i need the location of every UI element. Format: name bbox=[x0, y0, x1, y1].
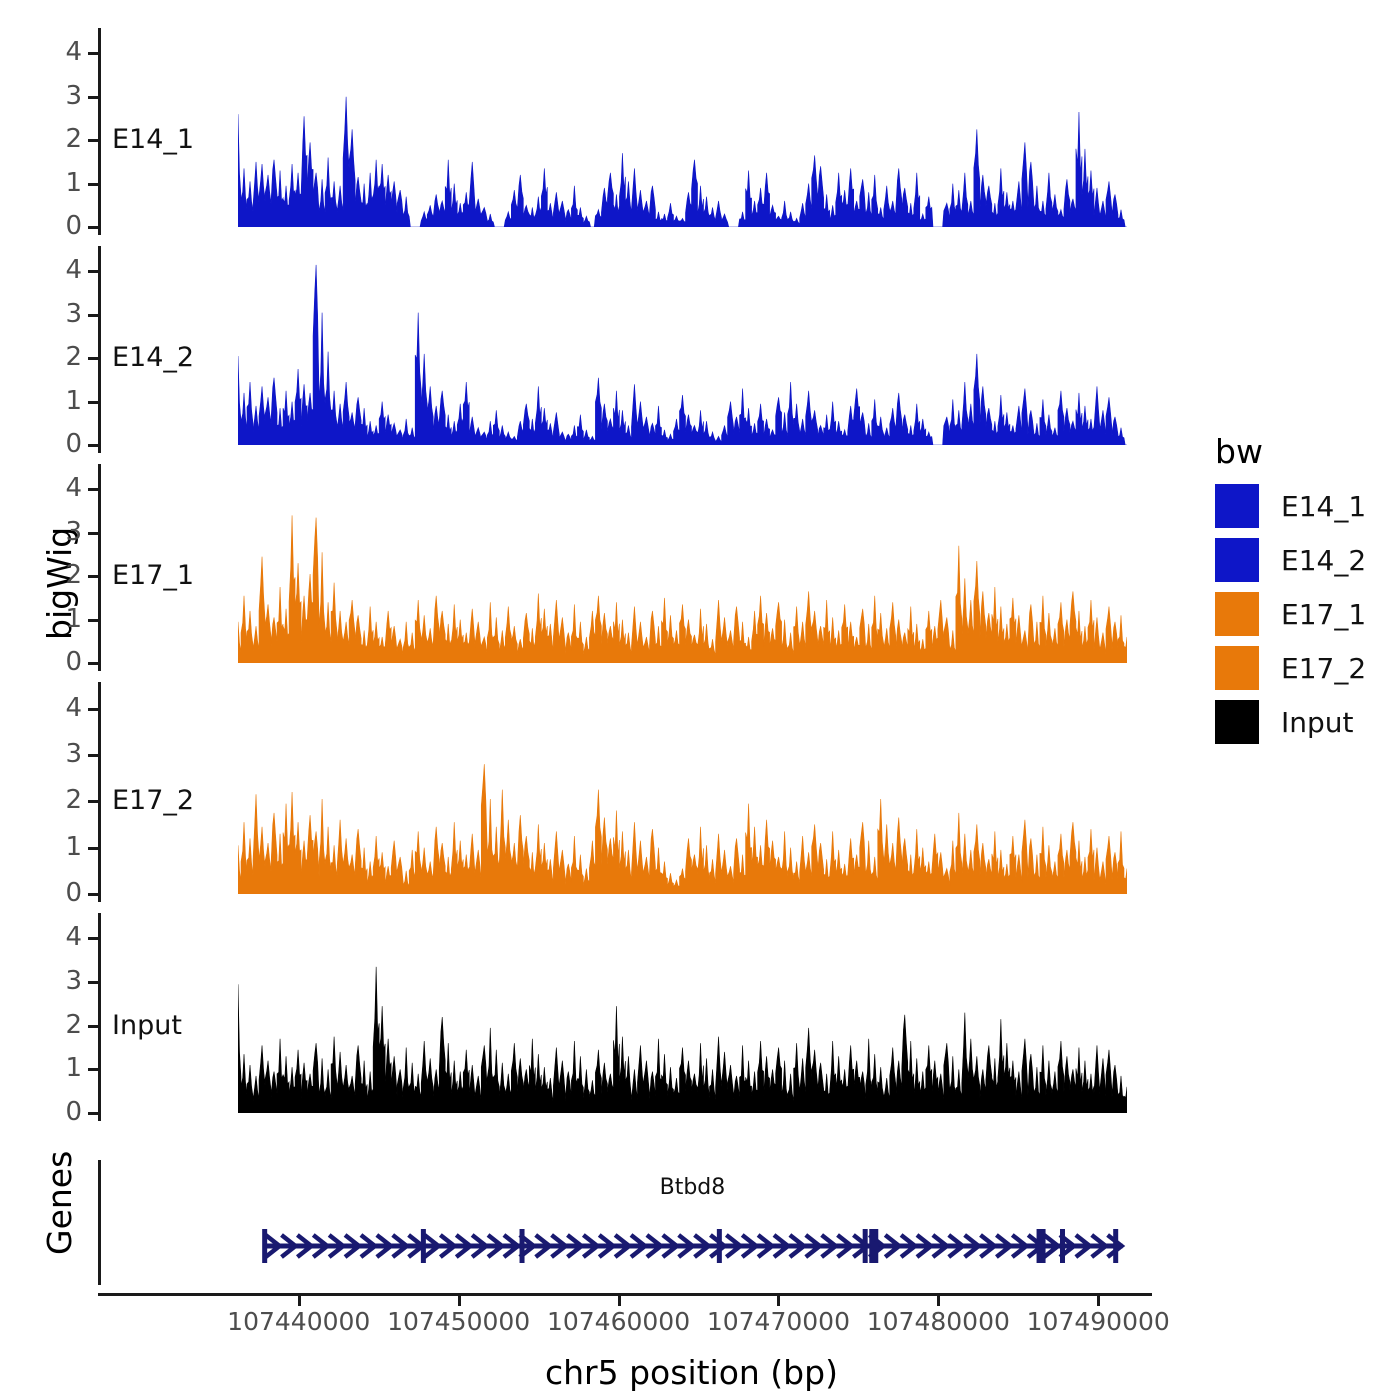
y-tick bbox=[88, 619, 98, 622]
signal-track-e14_1 bbox=[238, 36, 1127, 227]
y-tick bbox=[88, 139, 98, 142]
y-tick bbox=[88, 444, 98, 447]
y-tick-label: 4 bbox=[40, 924, 82, 950]
y-tick-label: 3 bbox=[40, 519, 82, 545]
y-tick bbox=[88, 357, 98, 360]
y-tick bbox=[88, 662, 98, 665]
y-tick bbox=[88, 183, 98, 186]
y-tick-label: 0 bbox=[40, 880, 82, 906]
y-axis-line-input bbox=[98, 913, 101, 1121]
legend-item-input[interactable]: Input bbox=[1215, 700, 1354, 744]
y-axis-line-e14_1 bbox=[98, 28, 101, 235]
plot-canvas: bigWigGenes01234E14_101234E14_201234E17_… bbox=[0, 0, 1400, 1400]
signal-track-e17_1 bbox=[238, 472, 1127, 663]
y-tick bbox=[88, 937, 98, 940]
signal-track-e17_2 bbox=[238, 690, 1127, 894]
legend-item-e17_2[interactable]: E17_2 bbox=[1215, 646, 1366, 690]
panel-label-e17_2: E17_2 bbox=[112, 785, 194, 816]
y-tick bbox=[88, 270, 98, 273]
legend-title: bw bbox=[1215, 432, 1263, 471]
y-tick-label: 4 bbox=[40, 39, 82, 65]
y-tick bbox=[88, 893, 98, 896]
legend-item-e17_1[interactable]: E17_1 bbox=[1215, 592, 1366, 636]
panel-label-e14_2: E14_2 bbox=[112, 342, 194, 373]
y-tick-label: 3 bbox=[40, 741, 82, 767]
legend-item-e14_1[interactable]: E14_1 bbox=[1215, 484, 1366, 528]
y-tick-label: 3 bbox=[40, 968, 82, 994]
y-tick bbox=[88, 52, 98, 55]
y-tick-label: 0 bbox=[40, 431, 82, 457]
y-axis-line-e17_2 bbox=[98, 682, 101, 902]
panel-label-e14_1: E14_1 bbox=[112, 124, 194, 155]
y-tick-label: 0 bbox=[40, 1099, 82, 1125]
legend-label: E17_1 bbox=[1281, 598, 1366, 631]
y-tick bbox=[88, 401, 98, 404]
legend-key-e17_2 bbox=[1215, 646, 1259, 690]
gene-name-label: Btbd8 bbox=[660, 1175, 726, 1200]
legend-label: E17_2 bbox=[1281, 652, 1366, 685]
signal-track-input bbox=[238, 921, 1127, 1113]
y-tick-label: 2 bbox=[40, 787, 82, 813]
x-tick bbox=[298, 1296, 301, 1306]
genes-axis-line bbox=[98, 1160, 101, 1285]
y-tick bbox=[88, 800, 98, 803]
x-axis-line bbox=[98, 1293, 1152, 1296]
gene-model-track bbox=[238, 1207, 1127, 1285]
y-axis-line-e17_1 bbox=[98, 464, 101, 671]
x-tick-label: 107490000 bbox=[988, 1309, 1208, 1335]
legend-key-e14_2 bbox=[1215, 538, 1259, 582]
y-tick-label: 4 bbox=[40, 475, 82, 501]
x-tick bbox=[458, 1296, 461, 1306]
y-tick bbox=[88, 754, 98, 757]
y-tick-label: 1 bbox=[40, 388, 82, 414]
y-tick bbox=[88, 1112, 98, 1115]
x-tick bbox=[937, 1296, 940, 1306]
x-tick bbox=[777, 1296, 780, 1306]
y-tick bbox=[88, 847, 98, 850]
y-tick-label: 0 bbox=[40, 649, 82, 675]
y-tick bbox=[88, 575, 98, 578]
legend-label: E14_2 bbox=[1281, 544, 1366, 577]
y-axis-line-e14_2 bbox=[98, 246, 101, 453]
y-tick bbox=[88, 708, 98, 711]
y-tick-label: 2 bbox=[40, 344, 82, 370]
y-tick-label: 1 bbox=[40, 170, 82, 196]
y-tick-label: 0 bbox=[40, 213, 82, 239]
y-tick-label: 2 bbox=[40, 562, 82, 588]
x-tick bbox=[618, 1296, 621, 1306]
legend-key-input bbox=[1215, 700, 1259, 744]
y-tick-label: 1 bbox=[40, 606, 82, 632]
panel-label-input: Input bbox=[112, 1010, 182, 1041]
y-tick-label: 4 bbox=[40, 257, 82, 283]
legend-key-e14_1 bbox=[1215, 484, 1259, 528]
y-tick-label: 2 bbox=[40, 126, 82, 152]
y-tick bbox=[88, 1025, 98, 1028]
y-tick bbox=[88, 532, 98, 535]
signal-track-e14_2 bbox=[238, 254, 1127, 445]
legend-label: E14_1 bbox=[1281, 490, 1366, 523]
x-tick bbox=[1097, 1296, 1100, 1306]
legend-label: Input bbox=[1281, 706, 1354, 739]
y-tick bbox=[88, 226, 98, 229]
y-tick-label: 3 bbox=[40, 301, 82, 327]
genes-axis-title: Genes bbox=[40, 1151, 79, 1255]
legend-key-e17_1 bbox=[1215, 592, 1259, 636]
y-tick-label: 2 bbox=[40, 1012, 82, 1038]
y-tick-label: 3 bbox=[40, 83, 82, 109]
panel-label-e17_1: E17_1 bbox=[112, 560, 194, 591]
y-tick bbox=[88, 96, 98, 99]
y-tick bbox=[88, 314, 98, 317]
y-tick bbox=[88, 488, 98, 491]
y-tick-label: 1 bbox=[40, 1055, 82, 1081]
y-tick bbox=[88, 981, 98, 984]
y-tick-label: 1 bbox=[40, 834, 82, 860]
y-tick-label: 4 bbox=[40, 695, 82, 721]
x-axis-title: chr5 position (bp) bbox=[545, 1353, 838, 1392]
legend-item-e14_2[interactable]: E14_2 bbox=[1215, 538, 1366, 582]
y-tick bbox=[88, 1068, 98, 1071]
